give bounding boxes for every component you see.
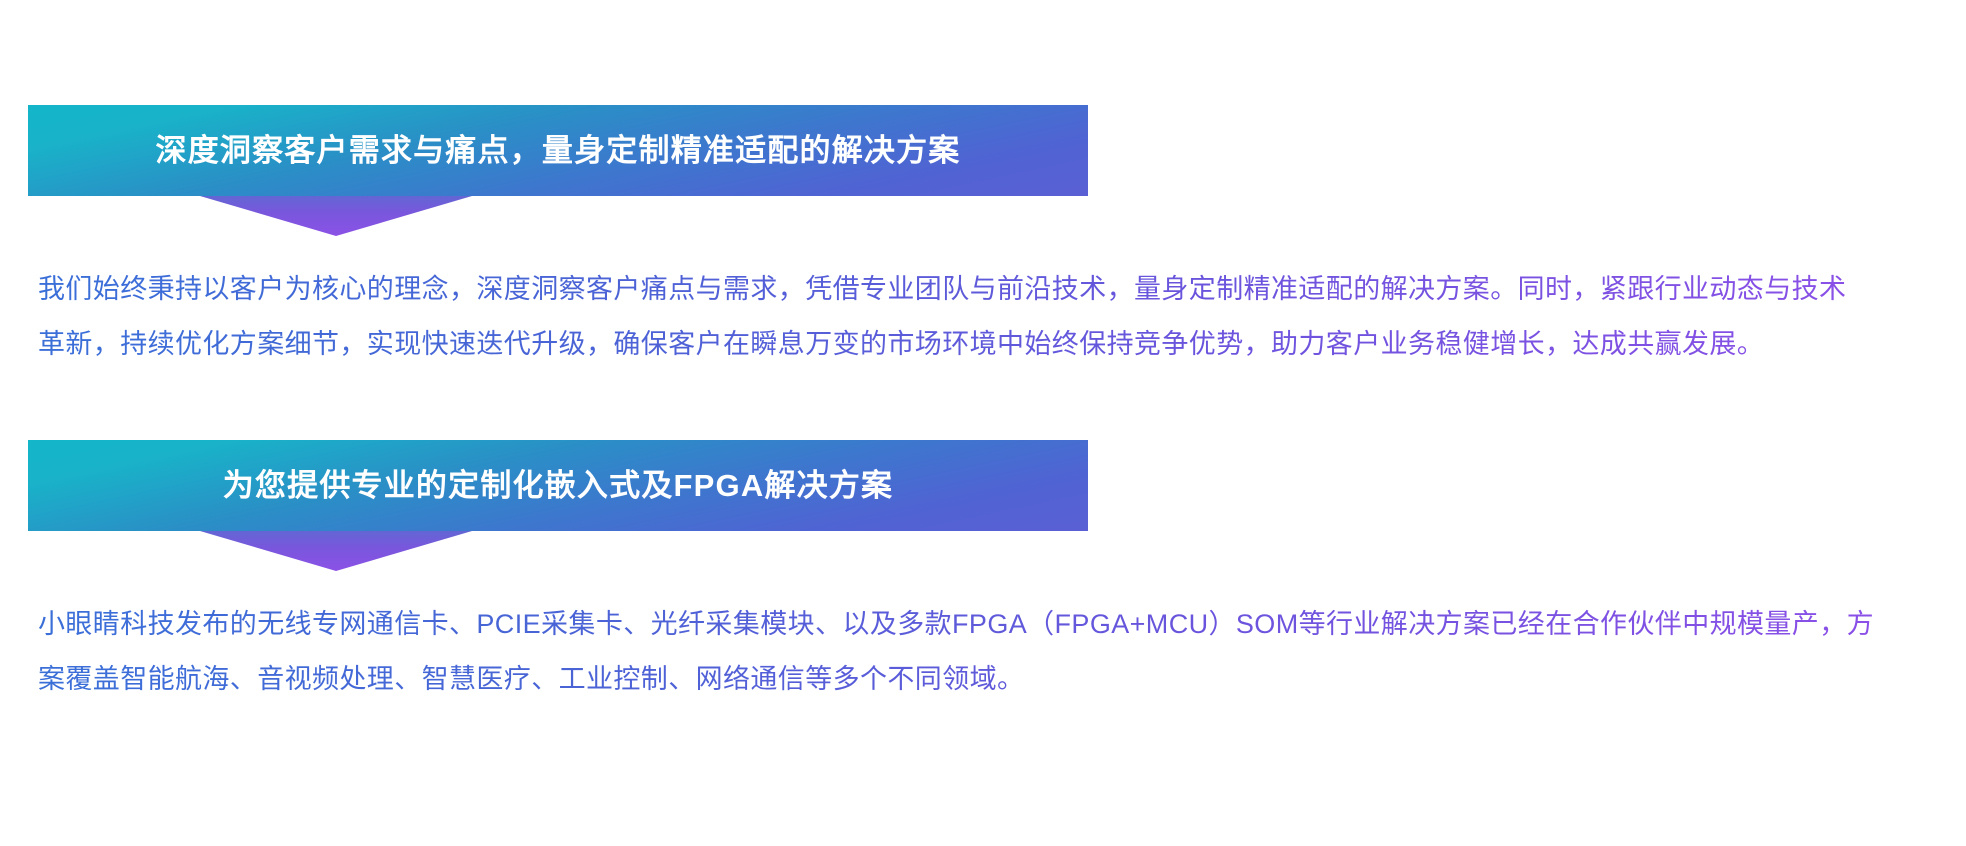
paragraph-line: 案覆盖智能航海、音视频处理、智慧医疗、工业控制、网络通信等多个不同领域。 (38, 652, 1938, 707)
banner-chevron-down-icon-1 (200, 196, 472, 236)
banner-title-2: 为您提供专业的定制化嵌入式及FPGA解决方案 (223, 467, 894, 504)
solutions-page: 深度洞察客户需求与痛点，量身定制精准适配的解决方案 我们始终秉持以客户为核心的理… (0, 0, 1966, 846)
section-paragraph-2: 小眼睛科技发布的无线专网通信卡、PCIE采集卡、光纤采集模块、以及多款FPGA（… (38, 597, 1938, 707)
paragraph-line: 我们始终秉持以客户为核心的理念，深度洞察客户痛点与需求，凭借专业团队与前沿技术，… (38, 262, 1938, 317)
banner-block-1: 深度洞察客户需求与痛点，量身定制精准适配的解决方案 (0, 0, 1966, 132)
section-banner-1: 深度洞察客户需求与痛点，量身定制精准适配的解决方案 (28, 105, 1088, 196)
banner-chevron-down-icon-2 (200, 531, 472, 571)
solution-section-customer-insight: 深度洞察客户需求与痛点，量身定制精准适配的解决方案 我们始终秉持以客户为核心的理… (0, 0, 1966, 132)
paragraph-line: 小眼睛科技发布的无线专网通信卡、PCIE采集卡、光纤采集模块、以及多款FPGA（… (38, 597, 1938, 652)
section-banner-2: 为您提供专业的定制化嵌入式及FPGA解决方案 (28, 440, 1088, 531)
banner-title-1: 深度洞察客户需求与痛点，量身定制精准适配的解决方案 (156, 132, 961, 169)
solution-section-fpga-offering: 为您提供专业的定制化嵌入式及FPGA解决方案 小眼睛科技发布的无线专网通信卡、P… (0, 335, 1966, 467)
banner-block-2: 为您提供专业的定制化嵌入式及FPGA解决方案 (0, 335, 1966, 467)
